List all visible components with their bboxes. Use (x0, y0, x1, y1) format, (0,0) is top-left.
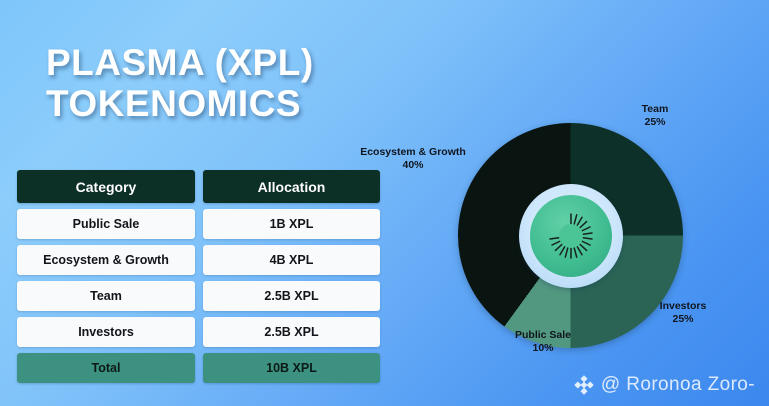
column-header-allocation: Allocation (203, 170, 380, 203)
chart-label-ecosystem-growth: Ecosystem & Growth 40% (360, 146, 466, 173)
binance-diamond-icon (574, 375, 594, 395)
watermark: @ Roronoa Zoro- (574, 374, 755, 396)
chart-label-team: Team 25% (642, 103, 669, 130)
cell-category: Investors (17, 317, 195, 347)
cell-category: Team (17, 281, 195, 311)
plasma-logo-icon (530, 195, 612, 277)
cell-total-label: Total (17, 353, 195, 383)
table-total-row: Total 10B XPL (17, 353, 380, 383)
cell-allocation: 1B XPL (203, 209, 380, 239)
cell-allocation: 2.5B XPL (203, 317, 380, 347)
chart-label-ecosystem-growth-name: Ecosystem & Growth (360, 146, 466, 158)
chart-label-team-name: Team (642, 103, 669, 115)
chart-label-investors-pct: 25% (660, 313, 707, 326)
watermark-text: @ Roronoa Zoro- (601, 374, 755, 396)
cell-total-value: 10B XPL (203, 353, 380, 383)
chart-label-team-pct: 25% (642, 116, 669, 129)
allocation-table: Category Allocation Public Sale 1B XPL E… (17, 170, 380, 383)
chart-label-public-sale: Public Sale 10% (515, 329, 571, 356)
page-title: PLASMA (XPL) TOKENOMICS (46, 42, 386, 125)
table-row: Team 2.5B XPL (17, 281, 380, 311)
table-row: Ecosystem & Growth 4B XPL (17, 245, 380, 275)
cell-category: Ecosystem & Growth (17, 245, 195, 275)
cell-allocation: 2.5B XPL (203, 281, 380, 311)
title-line-1: PLASMA (XPL) (46, 42, 386, 83)
chart-label-investors: Investors 25% (660, 300, 707, 327)
title-line-2: TOKENOMICS (46, 83, 386, 124)
chart-label-investors-name: Investors (660, 300, 707, 312)
cell-category: Public Sale (17, 209, 195, 239)
table-row: Public Sale 1B XPL (17, 209, 380, 239)
chart-label-public-sale-name: Public Sale (515, 329, 571, 341)
column-header-category: Category (17, 170, 195, 203)
chart-label-ecosystem-growth-pct: 40% (360, 159, 466, 172)
cell-allocation: 4B XPL (203, 245, 380, 275)
table-row: Investors 2.5B XPL (17, 317, 380, 347)
table-header-row: Category Allocation (17, 170, 380, 203)
chart-label-public-sale-pct: 10% (515, 342, 571, 355)
